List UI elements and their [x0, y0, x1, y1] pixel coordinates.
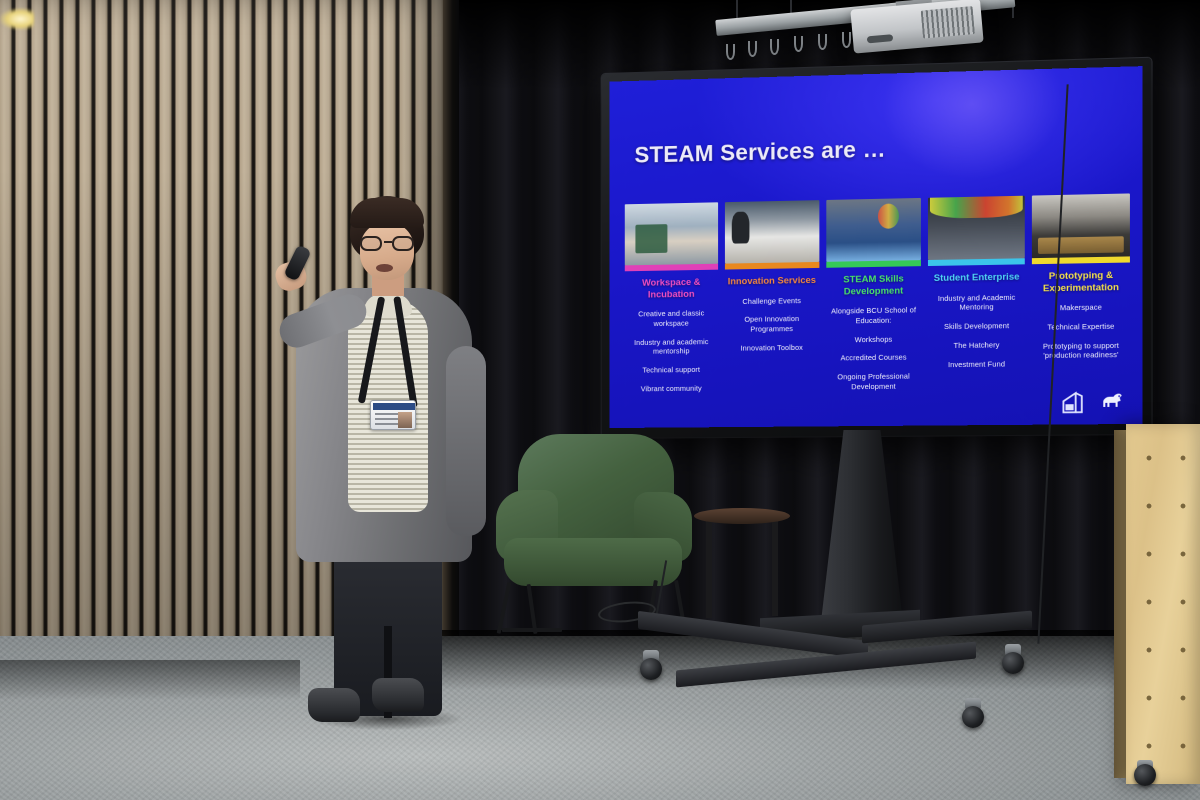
- list-item: Makerspace: [1032, 302, 1130, 313]
- list-item: Innovation Toolbox: [725, 343, 819, 354]
- list-item: Open Innovation Programmes: [725, 314, 819, 335]
- side-table: [694, 508, 790, 524]
- pegboard-panel[interactable]: [1126, 424, 1200, 784]
- list-item: Vibrant community: [625, 384, 718, 395]
- list-item: Technical Expertise: [1032, 321, 1130, 332]
- photo-workspace-incubation: [625, 202, 718, 265]
- badge-text-lines: [375, 413, 399, 427]
- slide-column-workspace-incubation: Workspace & Incubation Creative and clas…: [625, 202, 718, 403]
- list-item: Investment Fund: [928, 359, 1025, 370]
- curtain-hook-icon: [794, 36, 803, 52]
- slide-canvas: STEAM Services are … Workspace & Incubat…: [609, 66, 1142, 428]
- caster-wheel-icon: [1134, 764, 1156, 786]
- list-item: Technical support: [625, 365, 718, 376]
- slide-logos: [1060, 387, 1125, 414]
- armchair-leg: [527, 584, 538, 634]
- list-item: Challenge Events: [725, 295, 819, 306]
- list-item: Industry and Academic Mentoring: [928, 292, 1025, 313]
- column-photo: [725, 200, 819, 263]
- side-table-leg: [706, 520, 712, 618]
- curtain-hook-icon: [818, 34, 827, 50]
- photo-innovation-services: [725, 200, 819, 263]
- list-item: The Hatchery: [928, 340, 1025, 351]
- stand-caster-wheel: [960, 698, 986, 728]
- slide-column-steam-skills-development: STEAM Skills Development Alongside BCU S…: [826, 198, 921, 401]
- wall-base-shadow: [0, 660, 300, 700]
- caster-wheel-icon: [962, 706, 984, 728]
- presenter-collar: [364, 294, 412, 318]
- stand-caster-wheel: [638, 650, 664, 680]
- list-item: Prototyping to support 'production readi…: [1032, 340, 1130, 361]
- slide-column-student-enterprise: Student Enterprise Industry and Academic…: [928, 196, 1025, 401]
- armchair-leg: [497, 582, 512, 634]
- column-photo: [625, 202, 718, 265]
- column-heading: Innovation Services: [725, 275, 819, 288]
- stand-caster-wheel: [1000, 644, 1026, 674]
- slide-title: STEAM Services are …: [634, 136, 885, 169]
- column-item-list: Alongside BCU School of Education: Works…: [826, 305, 921, 392]
- armchair[interactable]: [496, 434, 692, 634]
- list-item: Ongoing Professional Development: [826, 372, 921, 393]
- list-item: Creative and classic workspace: [625, 308, 718, 329]
- display-screen[interactable]: STEAM Services are … Workspace & Incubat…: [609, 66, 1142, 428]
- column-photo: [928, 196, 1025, 260]
- photo-student-enterprise: [928, 196, 1025, 260]
- glasses-lens-right: [392, 236, 414, 251]
- curtain-hook-icon: [770, 39, 779, 55]
- list-item: Workshops: [826, 334, 921, 345]
- caster-wheel-icon: [640, 658, 662, 680]
- presenter-boot-right: [372, 678, 424, 712]
- pegboard-caster-wheel: [1132, 760, 1162, 786]
- glasses-bridge: [384, 241, 392, 243]
- caster-wheel-icon: [1002, 652, 1024, 674]
- ceiling-light: [0, 8, 34, 30]
- column-heading: Prototyping & Experimentation: [1032, 270, 1130, 295]
- column-photo: [1032, 193, 1130, 258]
- badge-photo: [398, 412, 412, 428]
- curtain-hook-row: [720, 30, 980, 56]
- photo-steam-skills-development: [826, 198, 921, 262]
- presenter: [272, 196, 488, 736]
- list-item: Skills Development: [928, 321, 1025, 332]
- presentation-room-photo: STEAM Services are … Workspace & Incubat…: [0, 0, 1200, 800]
- curtain-hook-icon: [842, 32, 851, 48]
- slide-column-innovation-services: Innovation Services Challenge Events Ope…: [725, 200, 819, 402]
- column-item-list: Industry and Academic Mentoring Skills D…: [928, 292, 1025, 370]
- column-heading: Student Enterprise: [928, 271, 1025, 284]
- list-item: Industry and academic mentorship: [625, 337, 718, 357]
- column-photo: [826, 198, 921, 262]
- presenter-mouth: [376, 264, 393, 272]
- badge-header-bar: [373, 403, 415, 410]
- list-item: Accredited Courses: [826, 353, 921, 364]
- curtain-hook-icon: [726, 44, 735, 60]
- armchair-seat: [504, 538, 682, 586]
- presenter-arm-left: [446, 346, 486, 536]
- list-item: Alongside BCU School of Education:: [826, 305, 921, 326]
- presenter-glasses-icon: [360, 236, 416, 251]
- slide-columns: Workspace & Incubation Creative and clas…: [625, 193, 1130, 403]
- column-heading: STEAM Skills Development: [826, 273, 921, 298]
- armchair-leg-rail: [502, 628, 562, 632]
- column-item-list: Challenge Events Open Innovation Program…: [725, 295, 819, 353]
- column-item-list: Makerspace Technical Expertise Prototypi…: [1032, 302, 1130, 361]
- slide-column-prototyping-experimentation: Prototyping & Experimentation Makerspace…: [1032, 193, 1130, 399]
- presenter-id-badge: [370, 400, 416, 430]
- column-heading: Workspace & Incubation: [625, 277, 718, 301]
- presenter-boot-left: [308, 688, 360, 722]
- photo-prototyping-experimentation: [1032, 193, 1130, 258]
- curtain-hook-icon: [748, 41, 757, 57]
- column-item-list: Creative and classic workspace Industry …: [625, 308, 718, 394]
- bcu-lion-logo-icon: [1099, 387, 1126, 414]
- side-table-leg: [772, 520, 778, 616]
- presenter-fringe: [350, 198, 424, 228]
- steamhouse-logo-icon: [1060, 390, 1089, 415]
- glasses-lens-left: [360, 236, 382, 251]
